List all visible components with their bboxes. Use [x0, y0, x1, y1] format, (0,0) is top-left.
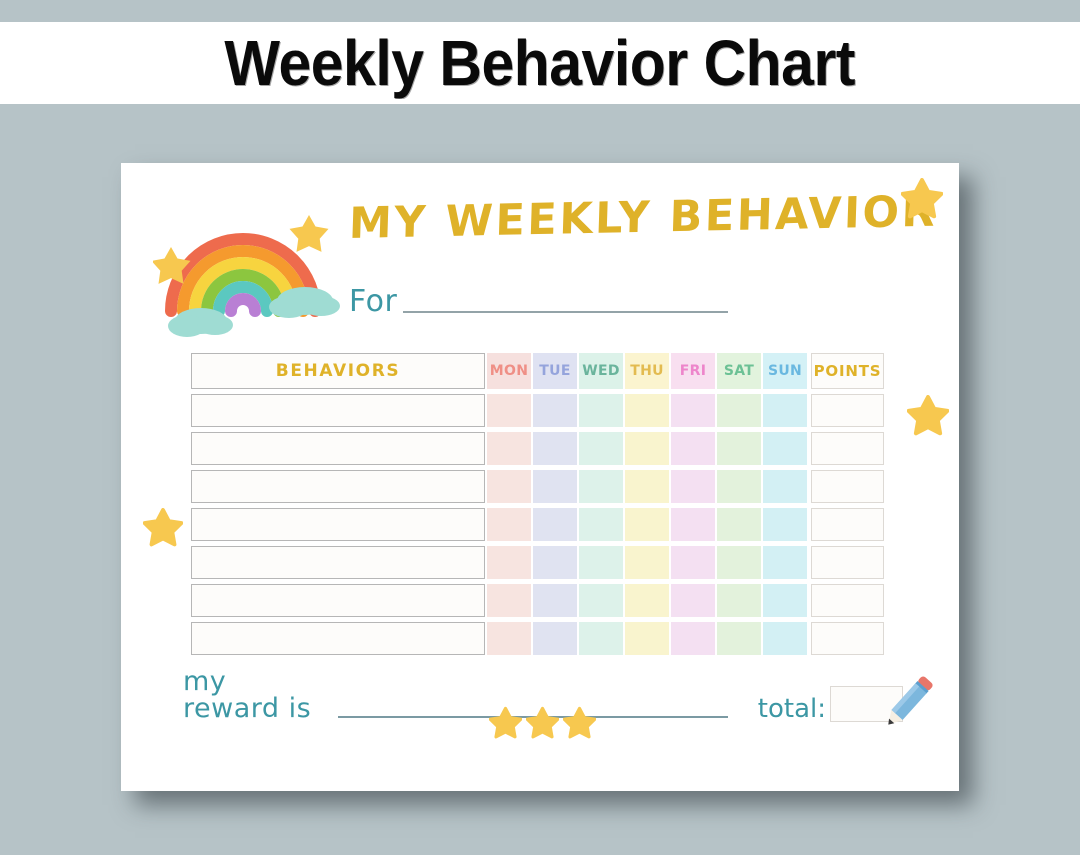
behaviors-header-label: BEHAVIORS — [276, 361, 400, 381]
day-label: FRI — [680, 363, 706, 379]
day-cell-fri[interactable] — [671, 394, 715, 427]
day-cell-mon[interactable] — [487, 546, 531, 579]
behavior-table: BEHAVIORSMONTUEWEDTHUFRISATSUNPOINTS — [191, 353, 889, 660]
day-cell-tue[interactable] — [533, 470, 577, 503]
behavior-input-cell[interactable] — [191, 470, 485, 503]
rainbow-icon — [153, 193, 363, 338]
day-cell-thu[interactable] — [625, 508, 669, 541]
day-cell-mon[interactable] — [487, 394, 531, 427]
day-cell-thu[interactable] — [625, 622, 669, 655]
day-cell-tue[interactable] — [533, 622, 577, 655]
day-cell-sun[interactable] — [763, 584, 807, 617]
day-header-tue: TUE — [533, 353, 577, 389]
behavior-chart-card: MY WEEKLY BEHAVIOR For BEHAVIORSMONTUEWE… — [121, 163, 959, 791]
points-input-cell[interactable] — [811, 432, 884, 465]
for-label: For — [349, 287, 397, 317]
pencil-icon — [878, 668, 938, 736]
table-row — [191, 432, 889, 465]
day-label: WED — [582, 363, 620, 379]
day-label: MON — [490, 363, 528, 379]
day-cell-thu[interactable] — [625, 432, 669, 465]
behavior-input-cell[interactable] — [191, 394, 485, 427]
bottom-star-group — [489, 706, 599, 740]
day-cell-tue[interactable] — [533, 432, 577, 465]
day-label: SUN — [768, 363, 802, 379]
day-cell-tue[interactable] — [533, 546, 577, 579]
day-header-sat: SAT — [717, 353, 761, 389]
day-cell-fri[interactable] — [671, 584, 715, 617]
points-input-cell[interactable] — [811, 470, 884, 503]
day-cell-fri[interactable] — [671, 546, 715, 579]
day-cell-mon[interactable] — [487, 470, 531, 503]
day-header-mon: MON — [487, 353, 531, 389]
behavior-input-cell[interactable] — [191, 546, 485, 579]
day-cell-mon[interactable] — [487, 508, 531, 541]
points-input-cell[interactable] — [811, 394, 884, 427]
day-cell-sun[interactable] — [763, 394, 807, 427]
star-icon — [901, 178, 943, 220]
points-input-cell[interactable] — [811, 584, 884, 617]
day-cell-sun[interactable] — [763, 622, 807, 655]
day-cell-sat[interactable] — [717, 470, 761, 503]
day-cell-mon[interactable] — [487, 432, 531, 465]
points-header-cell: POINTS — [811, 353, 884, 389]
day-cell-sat[interactable] — [717, 622, 761, 655]
table-row — [191, 508, 889, 541]
day-cell-thu[interactable] — [625, 394, 669, 427]
table-header-row: BEHAVIORSMONTUEWEDTHUFRISATSUNPOINTS — [191, 353, 889, 389]
day-label: SAT — [724, 363, 754, 379]
day-cell-sun[interactable] — [763, 470, 807, 503]
day-label: THU — [630, 363, 664, 379]
for-row: For — [349, 287, 929, 317]
day-cell-fri[interactable] — [671, 432, 715, 465]
for-name-input-line[interactable] — [403, 311, 728, 313]
day-header-thu: THU — [625, 353, 669, 389]
day-cell-wed[interactable] — [579, 584, 623, 617]
day-cell-wed[interactable] — [579, 432, 623, 465]
day-cell-sat[interactable] — [717, 584, 761, 617]
day-cell-mon[interactable] — [487, 622, 531, 655]
day-cell-thu[interactable] — [625, 546, 669, 579]
day-cell-sat[interactable] — [717, 432, 761, 465]
day-cell-tue[interactable] — [533, 394, 577, 427]
points-input-cell[interactable] — [811, 508, 884, 541]
day-cell-sun[interactable] — [763, 546, 807, 579]
table-row — [191, 546, 889, 579]
chart-heading: MY WEEKLY BEHAVIOR — [348, 187, 930, 249]
day-cell-fri[interactable] — [671, 470, 715, 503]
day-cell-wed[interactable] — [579, 470, 623, 503]
table-row — [191, 470, 889, 503]
day-cell-sun[interactable] — [763, 508, 807, 541]
star-icon — [526, 706, 559, 740]
day-cell-wed[interactable] — [579, 508, 623, 541]
behaviors-header-cell: BEHAVIORS — [191, 353, 485, 389]
day-cell-thu[interactable] — [625, 584, 669, 617]
points-input-cell[interactable] — [811, 622, 884, 655]
day-header-fri: FRI — [671, 353, 715, 389]
behavior-input-cell[interactable] — [191, 508, 485, 541]
day-cell-tue[interactable] — [533, 584, 577, 617]
day-header-wed: WED — [579, 353, 623, 389]
behavior-input-cell[interactable] — [191, 622, 485, 655]
table-row — [191, 622, 889, 655]
reward-label: my reward is — [183, 668, 330, 722]
day-cell-wed[interactable] — [579, 546, 623, 579]
day-cell-thu[interactable] — [625, 470, 669, 503]
behavior-input-cell[interactable] — [191, 432, 485, 465]
day-cell-fri[interactable] — [671, 622, 715, 655]
star-icon — [907, 395, 949, 437]
day-cell-wed[interactable] — [579, 394, 623, 427]
behavior-input-cell[interactable] — [191, 584, 485, 617]
day-cell-tue[interactable] — [533, 508, 577, 541]
star-icon — [143, 508, 183, 548]
day-label: TUE — [539, 363, 570, 379]
day-cell-sat[interactable] — [717, 508, 761, 541]
table-row — [191, 394, 889, 427]
points-input-cell[interactable] — [811, 546, 884, 579]
points-header-label: POINTS — [814, 362, 882, 380]
day-cell-sat[interactable] — [717, 546, 761, 579]
day-cell-wed[interactable] — [579, 622, 623, 655]
day-cell-sat[interactable] — [717, 394, 761, 427]
star-icon — [489, 706, 522, 740]
page-banner: Weekly Behavior Chart — [0, 22, 1080, 104]
day-cell-mon[interactable] — [487, 584, 531, 617]
total-label: total: — [758, 696, 826, 722]
page-title: Weekly Behavior Chart — [225, 31, 856, 95]
table-row — [191, 584, 889, 617]
day-header-sun: SUN — [763, 353, 807, 389]
day-cell-fri[interactable] — [671, 508, 715, 541]
star-icon — [563, 706, 596, 740]
day-cell-sun[interactable] — [763, 432, 807, 465]
